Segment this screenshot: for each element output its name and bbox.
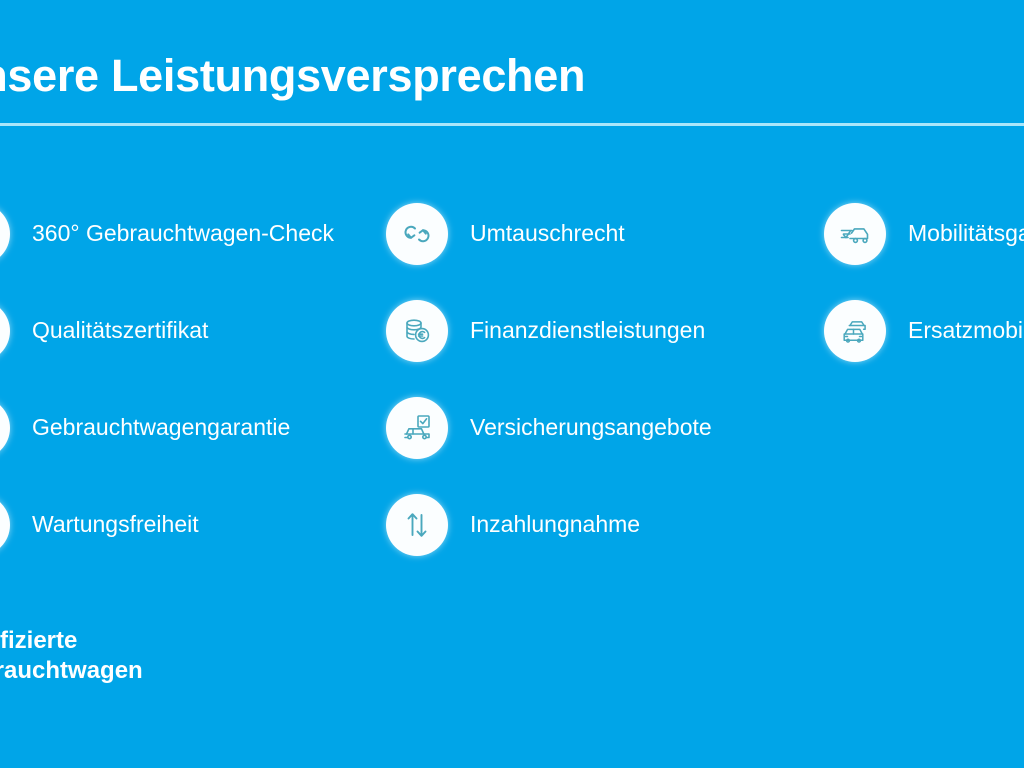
promise-label: Wartungsfreiheit — [32, 511, 199, 539]
promise-item[interactable]: Versicherungsangebote — [386, 379, 824, 476]
shield-car-icon — [0, 397, 10, 459]
promise-item[interactable]: Ersatzmobilität — [824, 282, 1024, 379]
up-down-arrows-icon — [386, 494, 448, 556]
promise-column-three: Mobilitätsgarantie E — [824, 185, 1024, 573]
promise-label: Qualitätszertifikat — [32, 317, 208, 345]
promise-item[interactable]: Qualitätszertifikat — [0, 282, 386, 379]
wrench-icon — [0, 494, 10, 556]
coin-stack-euro-icon — [386, 300, 448, 362]
promise-label: 360° Gebrauchtwagen-Check — [32, 220, 334, 248]
promise-item[interactable]: Wartungsfreiheit — [0, 476, 386, 573]
promise-label: Mobilitätsgarantie — [908, 220, 1024, 248]
promise-item[interactable]: Umtauschrecht — [386, 185, 824, 282]
promise-label: Inzahlungnahme — [470, 511, 640, 539]
promise-item[interactable]: Finanzdienstleistungen — [386, 282, 824, 379]
certified-line-1: Zertifizierte — [0, 626, 143, 656]
certified-line-2: Gebrauchtwagen — [0, 656, 143, 686]
car-checklist-icon — [386, 397, 448, 459]
promise-label: Ersatzmobilität — [908, 317, 1024, 345]
promise-item[interactable]: 360° Gebrauchtwagen-Check — [0, 185, 386, 282]
exchange-arrows-icon — [386, 203, 448, 265]
magnifier-car-360-icon — [0, 203, 10, 265]
promise-item[interactable]: Mobilitätsgarantie — [824, 185, 1024, 282]
promise-column-one: 360° Gebrauchtwagen-Check Qualitätszerti… — [0, 185, 386, 573]
slide-canvas: Unsere Leistungsversprechen 360° Gebrauc… — [0, 0, 1024, 768]
certified-used-cars-lockup: Zertifizierte Gebrauchtwagen — [0, 626, 143, 686]
promise-item[interactable]: Inzahlungnahme — [386, 476, 824, 573]
promise-label: Gebrauchtwagengarantie — [32, 414, 290, 442]
promise-label: Versicherungsangebote — [470, 414, 712, 442]
certificate-seal-icon — [0, 300, 10, 362]
promise-label: Finanzdienstleistungen — [470, 317, 705, 345]
promise-label: Umtauschrecht — [470, 220, 625, 248]
two-cars-icon — [824, 300, 886, 362]
car-speed-lines-icon — [824, 203, 886, 265]
page-title: Unsere Leistungsversprechen — [0, 52, 585, 99]
promise-item[interactable]: Gebrauchtwagengarantie — [0, 379, 386, 476]
promise-column-two: Umtauschrecht Finanzdienstleistun — [386, 185, 824, 573]
title-divider — [0, 123, 1024, 126]
promise-columns: 360° Gebrauchtwagen-Check Qualitätszerti… — [0, 185, 1024, 573]
